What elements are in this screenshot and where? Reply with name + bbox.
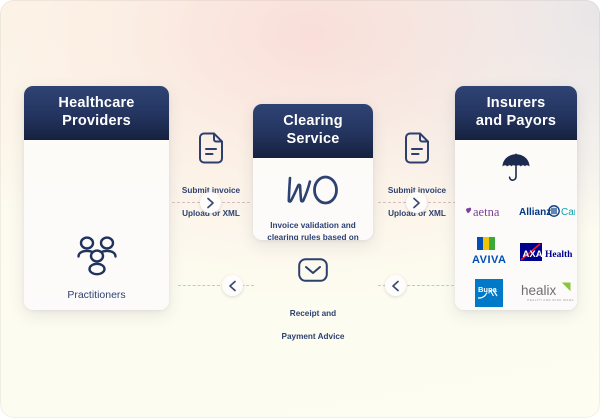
umbrella-icon	[501, 152, 531, 188]
card-healthcare-providers-title-line1: Healthcare	[30, 95, 163, 113]
chevron-right-icon-1[interactable]	[200, 192, 221, 213]
wo-logo-icon	[262, 170, 364, 210]
insurer-logo-allianz-care: Allianz Care	[519, 196, 575, 226]
envelope-icon	[255, 258, 371, 287]
card-insurers-and-payors[interactable]: Insurers and Payors	[455, 86, 577, 310]
clearing-service-description: Invoice validation and clearing rules ba…	[262, 220, 364, 240]
practitioners-label: Practitioners	[24, 289, 169, 301]
flow-receipt-payment-advice: Receipt and Payment Advice	[255, 258, 371, 343]
card-healthcare-providers-body: Practitioners	[24, 140, 169, 310]
svg-text:healix: healix	[521, 283, 557, 298]
svg-text:AXA: AXA	[523, 249, 543, 260]
diagram-canvas: Healthcare Providers Practitioners	[0, 0, 600, 418]
insurer-logo-grid: aetna Allianz Care	[461, 196, 571, 310]
flow-receipt-label-line1: Receipt and	[290, 309, 336, 318]
card-healthcare-providers[interactable]: Healthcare Providers Practitioners	[24, 86, 169, 310]
card-healthcare-providers-header: Healthcare Providers	[24, 86, 169, 140]
svg-text:aetna: aetna	[473, 205, 500, 219]
card-clearing-service-title-line1: Clearing	[259, 113, 367, 131]
insurer-logo-healix: healix HEALTH AND RISK MANAGEMENT	[519, 278, 575, 308]
chevron-left-icon-2[interactable]	[385, 275, 406, 296]
card-clearing-service[interactable]: Clearing Service Invoice validation and …	[253, 104, 373, 240]
card-insurers-and-payors-body: aetna Allianz Care	[455, 140, 577, 310]
card-insurers-and-payors-title-line1: Insurers	[461, 95, 571, 113]
svg-text:Care: Care	[561, 207, 575, 218]
card-insurers-and-payors-header: Insurers and Payors	[455, 86, 577, 140]
svg-text:Allianz: Allianz	[519, 207, 551, 218]
svg-text:HEALTH AND RISK MANAGEMENT: HEALTH AND RISK MANAGEMENT	[527, 298, 574, 302]
card-clearing-service-body: Invoice validation and clearing rules ba…	[253, 158, 373, 240]
document-upload-icon	[374, 132, 460, 169]
people-group-icon	[75, 263, 119, 280]
card-clearing-service-title-line2: Service	[259, 131, 367, 149]
chevron-left-icon-1[interactable]	[222, 275, 243, 296]
flow-receipt-payment-advice-label: Receipt and Payment Advice	[255, 297, 371, 343]
insurer-logo-aviva: AVIVA	[461, 237, 517, 267]
svg-text:AVIVA: AVIVA	[472, 254, 507, 266]
chevron-right-icon-2[interactable]	[406, 192, 427, 213]
insurer-logo-aetna: aetna	[461, 196, 517, 226]
insurer-logo-bupa: Bupa	[461, 278, 517, 308]
document-upload-icon	[168, 132, 254, 169]
card-insurers-and-payors-title-line2: and Payors	[461, 113, 571, 131]
flow-receipt-label-line2: Payment Advice	[282, 332, 345, 341]
svg-text:Health: Health	[545, 250, 573, 260]
card-clearing-service-header: Clearing Service	[253, 104, 373, 158]
insurer-logo-axa-health: AXA Health	[519, 237, 575, 267]
card-healthcare-providers-title-line2: Providers	[30, 113, 163, 131]
